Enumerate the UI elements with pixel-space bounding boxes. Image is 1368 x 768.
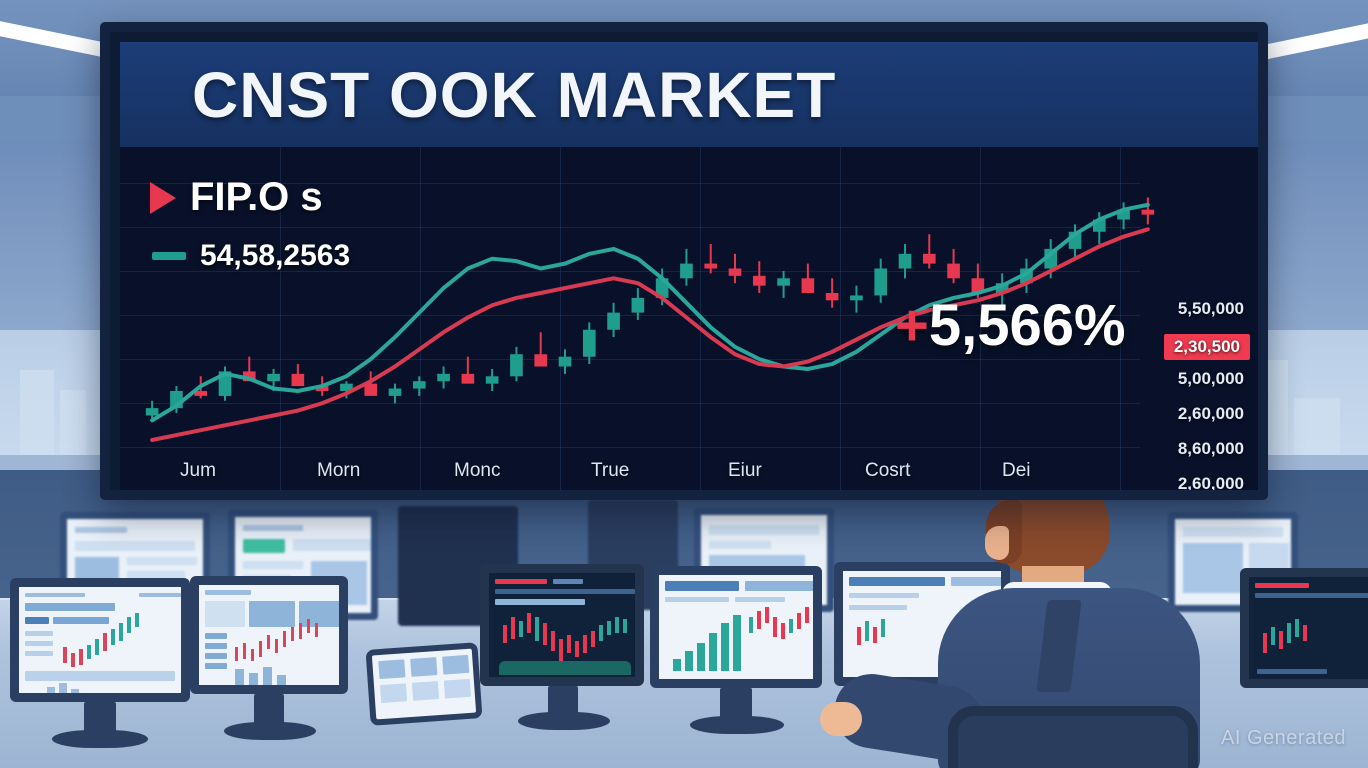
candle-body: [292, 374, 305, 386]
x-axis-tick: Cosrt: [865, 460, 910, 482]
candle-body: [899, 254, 912, 269]
candle-body: [753, 276, 766, 286]
candle-body: [437, 374, 450, 381]
candle-body: [802, 278, 815, 293]
line-dash-icon: [152, 252, 186, 260]
candle-body: [923, 254, 936, 264]
y-axis-tick: 2,60,000: [1178, 404, 1244, 424]
y-axis-tick: 5,00,000: [1178, 369, 1244, 389]
candle-body: [486, 376, 499, 383]
candle-body: [1142, 210, 1155, 215]
legend-item-1: 54,58,2563: [152, 239, 350, 273]
candle-body: [632, 298, 645, 313]
candle-body: [850, 295, 863, 300]
candle-body: [607, 313, 620, 330]
candle-body: [583, 330, 596, 357]
change-percent: +5,566%: [895, 292, 1126, 359]
legend-item-0: FIP.O s: [150, 175, 323, 220]
y-axis-tick: 8,60,000: [1178, 439, 1244, 459]
y-axis-tick: 5,50,000: [1178, 299, 1244, 319]
legend-label-0: FIP.O s: [190, 175, 323, 220]
candle-body: [267, 374, 280, 381]
x-axis-tick: True: [591, 460, 629, 482]
x-axis-tick: Morn: [317, 460, 360, 482]
y-axis-tick: 2,30,500: [1164, 334, 1250, 360]
x-axis-tick: Eiur: [728, 460, 762, 482]
trader-person: [930, 470, 1230, 768]
candle-body: [777, 278, 790, 285]
candle-body: [704, 264, 717, 269]
office-chair: [948, 706, 1198, 768]
ai-generated-watermark: AI Generated: [1221, 727, 1346, 750]
candle-body: [947, 264, 960, 279]
page-title: CNST OOK MARKET: [192, 58, 836, 132]
candle-body: [559, 357, 572, 367]
stock-display-board: CNST OOK MARKET FIP.O s 54,58,2563 +5,56…: [100, 22, 1268, 500]
candle-body: [729, 269, 742, 276]
candle-body: [146, 408, 159, 415]
person-hand: [820, 702, 862, 736]
candle-body: [680, 264, 693, 279]
triangle-up-icon: [150, 182, 176, 214]
candlestick-chart: FIP.O s 54,58,2563 +5,566% 5,50,0002,30,…: [120, 147, 1258, 500]
candle-body: [389, 389, 402, 396]
x-axis: JumMornMoncTrueEiurCosrtDei: [120, 460, 1258, 494]
board-title-bar: CNST OOK MARKET: [120, 42, 1258, 147]
x-axis-tick: Dei: [1002, 460, 1031, 482]
plus-sign: +: [895, 293, 929, 358]
candle-body: [413, 381, 426, 388]
legend-label-1: 54,58,2563: [200, 239, 350, 273]
candle-body: [874, 269, 887, 296]
person-ear: [985, 526, 1009, 560]
candle-body: [826, 293, 839, 300]
candle-body: [462, 374, 475, 384]
x-axis-tick: Monc: [454, 460, 500, 482]
x-axis-tick: Jum: [180, 460, 216, 482]
change-value: 5,566%: [929, 293, 1126, 358]
candle-body: [534, 354, 547, 366]
candle-body: [510, 354, 523, 376]
